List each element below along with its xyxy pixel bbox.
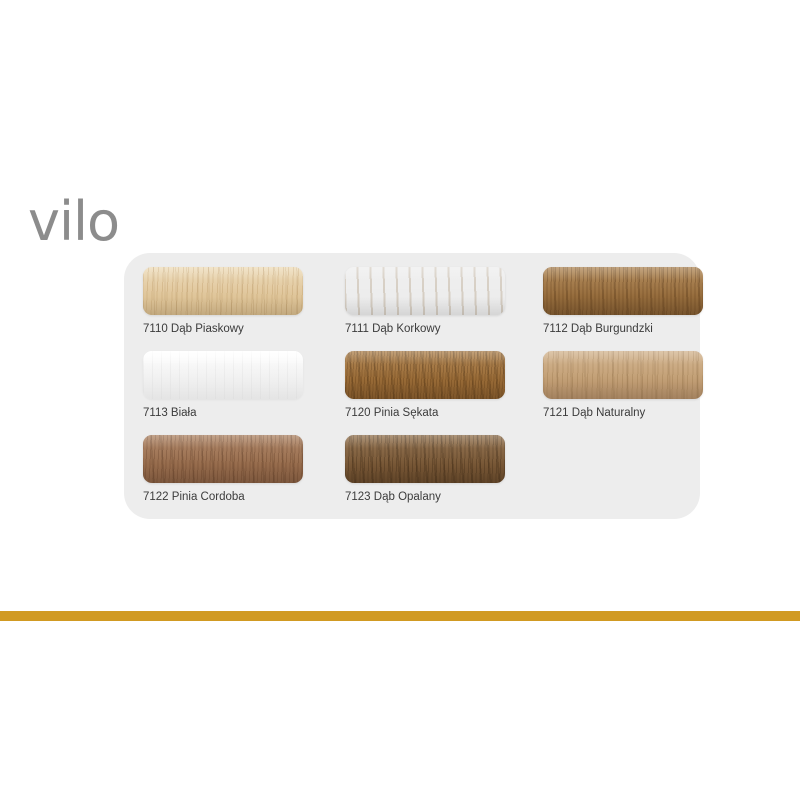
swatch-chip-7113[interactable] — [143, 351, 303, 399]
swatch-item-7113[interactable]: 7113 Biała — [134, 351, 334, 435]
swatch-chip-7111[interactable] — [345, 267, 505, 315]
swatch-item-7122[interactable]: 7122 Pinia Cordoba — [134, 435, 334, 519]
swatch-label-7112: 7112 Dąb Burgundzki — [543, 323, 700, 335]
swatch-label-7122: 7122 Pinia Cordoba — [143, 491, 334, 503]
swatch-grid: 7110 Dąb Piaskowy 7111 Dąb Korkowy 7112 … — [134, 267, 688, 519]
swatch-chip-7122[interactable] — [143, 435, 303, 483]
swatch-item-7110[interactable]: 7110 Dąb Piaskowy — [134, 267, 334, 351]
chip-sheen — [345, 267, 505, 315]
chip-sheen — [543, 267, 703, 315]
swatch-item-7111[interactable]: 7111 Dąb Korkowy — [334, 267, 534, 351]
swatch-label-7123: 7123 Dąb Opalany — [345, 491, 534, 503]
swatch-item-7112[interactable]: 7112 Dąb Burgundzki — [534, 267, 700, 351]
swatch-item-7121[interactable]: 7121 Dąb Naturalny — [534, 351, 700, 435]
vilo-logo: vilo — [28, 196, 158, 254]
swatch-chip-7121[interactable] — [543, 351, 703, 399]
chip-sheen — [143, 267, 303, 315]
finish-swatch-card: 7110 Dąb Piaskowy 7111 Dąb Korkowy 7112 … — [124, 253, 700, 519]
swatch-item-7120[interactable]: 7120 Pinia Sękata — [334, 351, 534, 435]
swatch-label-7110: 7110 Dąb Piaskowy — [143, 323, 334, 335]
vilo-logo-text: vilo — [28, 196, 119, 253]
gold-accent-bar — [0, 611, 800, 621]
chip-sheen — [345, 351, 505, 399]
chip-sheen — [143, 435, 303, 483]
chip-sheen — [143, 351, 303, 399]
swatch-chip-7112[interactable] — [543, 267, 703, 315]
swatch-item-7123[interactable]: 7123 Dąb Opalany — [334, 435, 534, 519]
swatch-chip-7123[interactable] — [345, 435, 505, 483]
swatch-label-7120: 7120 Pinia Sękata — [345, 407, 534, 419]
chip-sheen — [345, 435, 505, 483]
swatch-label-7113: 7113 Biała — [143, 407, 334, 419]
swatch-chip-7120[interactable] — [345, 351, 505, 399]
swatch-chip-7110[interactable] — [143, 267, 303, 315]
swatch-label-7121: 7121 Dąb Naturalny — [543, 407, 700, 419]
chip-sheen — [543, 351, 703, 399]
swatch-label-7111: 7111 Dąb Korkowy — [345, 323, 534, 335]
